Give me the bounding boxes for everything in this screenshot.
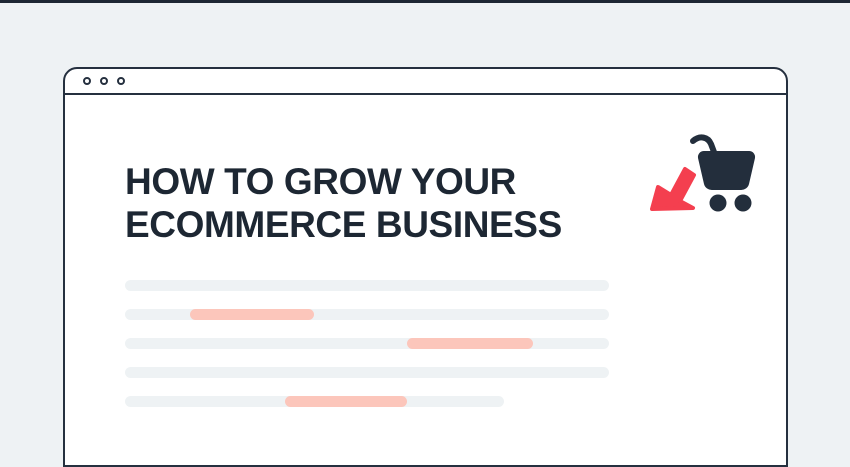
window-controls — [83, 77, 125, 85]
skeleton-highlight — [407, 338, 533, 349]
skeleton-row — [125, 280, 685, 291]
cart-wheel-left — [710, 195, 727, 212]
skeleton-row — [125, 338, 685, 349]
cart-illustration — [638, 125, 758, 225]
shopping-cart-icon — [693, 137, 755, 211]
maximize-dot[interactable] — [117, 77, 125, 85]
skeleton-row — [125, 396, 685, 407]
content-skeleton — [125, 280, 685, 407]
skeleton-line — [125, 280, 609, 291]
skeleton-highlight — [285, 396, 407, 407]
skeleton-row — [125, 367, 685, 378]
page-title-line-2: ECOMMERCE BUSINESS — [125, 203, 595, 246]
browser-toolbar — [65, 69, 786, 95]
close-dot[interactable] — [83, 77, 91, 85]
skeleton-highlight — [190, 309, 314, 320]
cart-wheel-right — [735, 195, 752, 212]
minimize-dot[interactable] — [100, 77, 108, 85]
skeleton-row — [125, 309, 685, 320]
browser-window: HOW TO GROW YOUR ECOMMERCE BUSINESS — [63, 67, 788, 467]
skeleton-line — [125, 367, 609, 378]
page-content: HOW TO GROW YOUR ECOMMERCE BUSINESS — [65, 95, 786, 465]
arrow-cursor-icon — [652, 169, 694, 209]
page-title: HOW TO GROW YOUR ECOMMERCE BUSINESS — [125, 160, 595, 246]
canvas-top-rule — [0, 0, 850, 3]
skeleton-line — [125, 338, 609, 349]
page-title-line-1: HOW TO GROW YOUR — [125, 160, 595, 203]
